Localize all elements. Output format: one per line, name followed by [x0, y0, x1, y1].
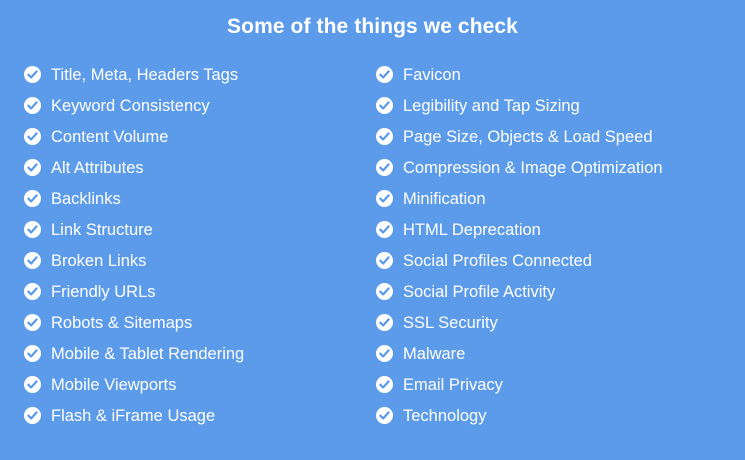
check-list-item: Legibility and Tap Sizing: [376, 90, 721, 121]
check-circle-icon: [376, 283, 393, 300]
check-circle-icon: [376, 190, 393, 207]
check-circle-icon: [24, 252, 41, 269]
check-list-item: Friendly URLs: [24, 276, 376, 307]
check-circle-icon: [24, 221, 41, 238]
check-list-item: Broken Links: [24, 245, 376, 276]
check-list-item: Minification: [376, 183, 721, 214]
check-list-item: Malware: [376, 338, 721, 369]
check-list-item: Social Profiles Connected: [376, 245, 721, 276]
check-list-item-label: Flash & iFrame Usage: [51, 406, 215, 426]
check-list-item-label: Title, Meta, Headers Tags: [51, 65, 238, 85]
check-list-item: Alt Attributes: [24, 152, 376, 183]
check-list-item: Mobile & Tablet Rendering: [24, 338, 376, 369]
check-list-item: Keyword Consistency: [24, 90, 376, 121]
check-list-panel: Some of the things we check Title, Meta,…: [0, 0, 745, 460]
check-list-item: Email Privacy: [376, 369, 721, 400]
check-circle-icon: [24, 159, 41, 176]
check-list-columns: Title, Meta, Headers TagsKeyword Consist…: [0, 59, 745, 431]
check-list-item-label: Robots & Sitemaps: [51, 313, 192, 333]
check-circle-icon: [376, 128, 393, 145]
check-list-item-label: Content Volume: [51, 127, 168, 147]
check-list-item: Link Structure: [24, 214, 376, 245]
check-circle-icon: [376, 314, 393, 331]
check-list-item-label: Link Structure: [51, 220, 153, 240]
check-list-item: HTML Deprecation: [376, 214, 721, 245]
check-list-column-left: Title, Meta, Headers TagsKeyword Consist…: [0, 59, 376, 431]
check-circle-icon: [376, 407, 393, 424]
page-title: Some of the things we check: [0, 14, 745, 40]
check-circle-icon: [376, 345, 393, 362]
check-list-item: Backlinks: [24, 183, 376, 214]
check-circle-icon: [376, 97, 393, 114]
check-circle-icon: [376, 376, 393, 393]
check-circle-icon: [24, 376, 41, 393]
check-list-item-label: Friendly URLs: [51, 282, 156, 302]
check-list-item-label: HTML Deprecation: [403, 220, 541, 240]
check-circle-icon: [376, 159, 393, 176]
check-circle-icon: [24, 190, 41, 207]
check-list-item-label: Legibility and Tap Sizing: [403, 96, 580, 116]
check-list-item-label: Technology: [403, 406, 486, 426]
check-list-item-label: Malware: [403, 344, 465, 364]
check-list-item-label: Mobile & Tablet Rendering: [51, 344, 244, 364]
check-list-item-label: Compression & Image Optimization: [403, 158, 663, 178]
check-list-item: SSL Security: [376, 307, 721, 338]
check-list-item-label: Keyword Consistency: [51, 96, 210, 116]
check-list-item: Page Size, Objects & Load Speed: [376, 121, 721, 152]
check-list-column-right: FaviconLegibility and Tap SizingPage Siz…: [376, 59, 721, 431]
check-circle-icon: [24, 97, 41, 114]
check-list-item-label: Social Profile Activity: [403, 282, 555, 302]
check-list-item: Robots & Sitemaps: [24, 307, 376, 338]
check-list-item: Content Volume: [24, 121, 376, 152]
check-list-item-label: Backlinks: [51, 189, 121, 209]
check-list-item: Mobile Viewports: [24, 369, 376, 400]
check-list-item-label: Alt Attributes: [51, 158, 144, 178]
check-list-item-label: Mobile Viewports: [51, 375, 176, 395]
check-circle-icon: [376, 66, 393, 83]
check-list-item: Social Profile Activity: [376, 276, 721, 307]
check-list-item-label: Social Profiles Connected: [403, 251, 592, 271]
check-circle-icon: [24, 128, 41, 145]
check-list-item-label: Broken Links: [51, 251, 146, 271]
check-circle-icon: [24, 345, 41, 362]
check-list-item-label: Favicon: [403, 65, 461, 85]
check-list-item: Technology: [376, 400, 721, 431]
check-list-item: Compression & Image Optimization: [376, 152, 721, 183]
check-circle-icon: [376, 252, 393, 269]
check-circle-icon: [24, 314, 41, 331]
check-list-item-label: Email Privacy: [403, 375, 503, 395]
check-circle-icon: [24, 66, 41, 83]
check-list-item-label: Page Size, Objects & Load Speed: [403, 127, 653, 147]
check-list-item: Title, Meta, Headers Tags: [24, 59, 376, 90]
check-list-item: Flash & iFrame Usage: [24, 400, 376, 431]
check-circle-icon: [376, 221, 393, 238]
check-list-item: Favicon: [376, 59, 721, 90]
check-circle-icon: [24, 407, 41, 424]
check-list-item-label: Minification: [403, 189, 486, 209]
check-circle-icon: [24, 283, 41, 300]
check-list-item-label: SSL Security: [403, 313, 498, 333]
